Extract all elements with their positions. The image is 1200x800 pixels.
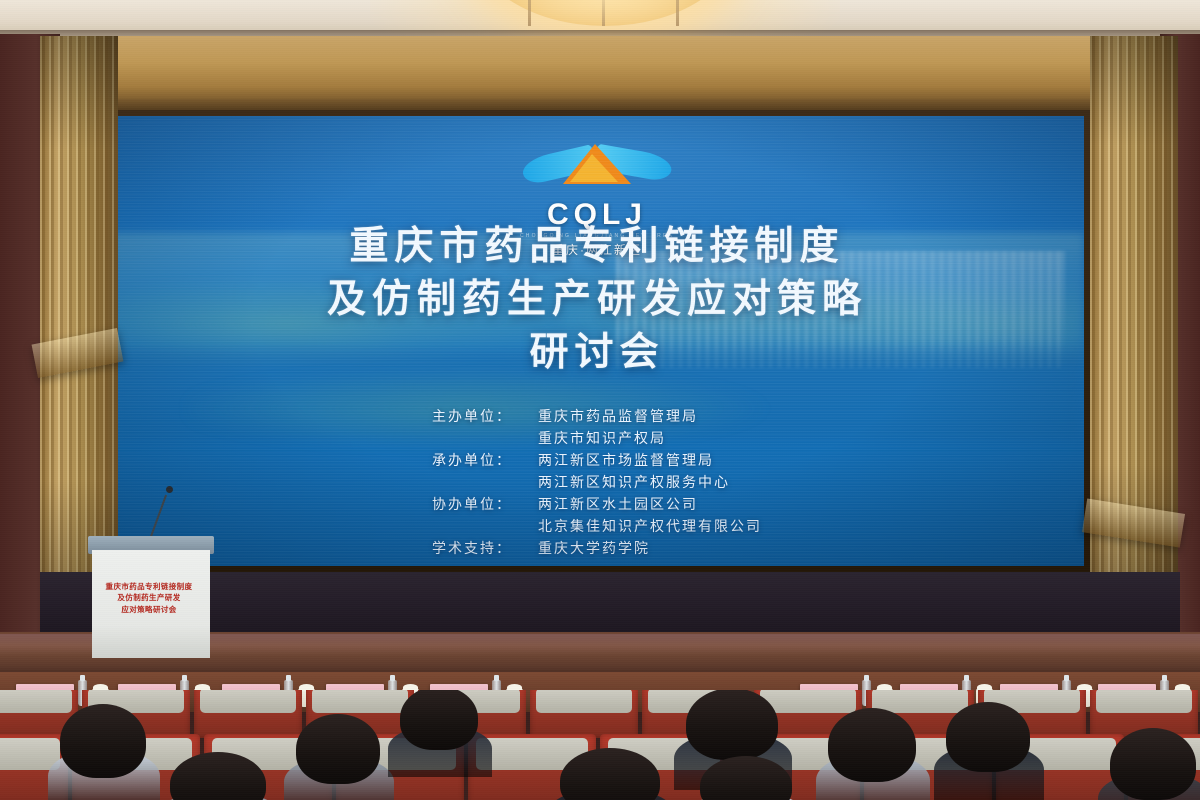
audience-seating	[0, 690, 1200, 800]
credit-value-organizer-2: 两江新区知识产权服务中心	[538, 472, 762, 492]
credit-value-academic-1: 重庆大学药学院	[538, 538, 762, 558]
credit-label-spacer-2	[432, 472, 512, 492]
title-line-2: 及仿制药生产研发应对策略	[110, 273, 1084, 326]
credit-value-host-1: 重庆市药品监督管理局	[538, 406, 762, 426]
credit-label-spacer-1	[432, 428, 512, 448]
credit-label-academic: 学术支持：	[432, 538, 512, 558]
audience-head	[60, 704, 146, 778]
podium-sign-line-3: 应对策略研讨会	[121, 604, 176, 615]
credit-value-host-2: 重庆市知识产权局	[538, 428, 762, 448]
led-screen: CQLJ CHONGQING LIANGJIANG NEW AREA 重庆·两江…	[110, 116, 1084, 566]
credit-label-spacer-3	[432, 516, 512, 536]
credit-value-organizer-1: 两江新区市场监督管理局	[538, 450, 762, 470]
seat-headrest	[1096, 690, 1191, 713]
seat-headrest	[536, 690, 631, 713]
credit-value-coorganizer-2: 北京集佳知识产权代理有限公司	[538, 516, 762, 536]
credit-label-organizer: 承办单位：	[432, 450, 512, 470]
audience-seat	[530, 690, 638, 738]
seat-headrest	[200, 690, 295, 713]
podium-sign-line-2: 及仿制药生产研发	[117, 592, 180, 603]
credit-value-coorganizer-1: 两江新区水土园区公司	[538, 494, 762, 514]
led-screen-frame: CQLJ CHONGQING LIANGJIANG NEW AREA 重庆·两江…	[104, 110, 1090, 572]
logo-bird-mountain-icon	[522, 142, 672, 198]
stage-valance	[96, 36, 1096, 106]
title-line-1: 重庆市药品专利链接制度	[110, 220, 1084, 273]
credit-label-host: 主办单位：	[432, 406, 512, 426]
audience-head	[400, 690, 478, 750]
title-line-3: 研讨会	[110, 326, 1084, 379]
microphone-head-icon	[166, 486, 173, 493]
conference-title: 重庆市药品专利链接制度 及仿制药生产研发应对策略 研讨会	[110, 220, 1084, 379]
seat-headrest	[312, 690, 407, 713]
conference-room-photo: CQLJ CHONGQING LIANGJIANG NEW AREA 重庆·两江…	[0, 0, 1200, 800]
audience-seat	[194, 690, 302, 738]
audience-head	[1110, 728, 1196, 800]
curtain-right	[1090, 36, 1178, 648]
seat-headrest	[0, 690, 72, 713]
organizer-credits: 主办单位： 重庆市药品监督管理局 重庆市知识产权局 承办单位： 两江新区市场监督…	[110, 406, 1084, 558]
credit-label-coorganizer: 协办单位：	[432, 494, 512, 514]
seat-headrest	[760, 690, 855, 713]
speaker-podium: 重庆市药品专利链接制度 及仿制药生产研发 应对策略研讨会	[88, 536, 214, 662]
podium-sign-line-1: 重庆市药品专利链接制度	[106, 581, 193, 592]
audience-head	[828, 708, 916, 782]
audience-head	[946, 702, 1030, 772]
podium-sign: 重庆市药品专利链接制度 及仿制药生产研发 应对策略研讨会	[96, 570, 202, 626]
audience-head	[296, 714, 380, 784]
audience-head	[686, 690, 778, 760]
